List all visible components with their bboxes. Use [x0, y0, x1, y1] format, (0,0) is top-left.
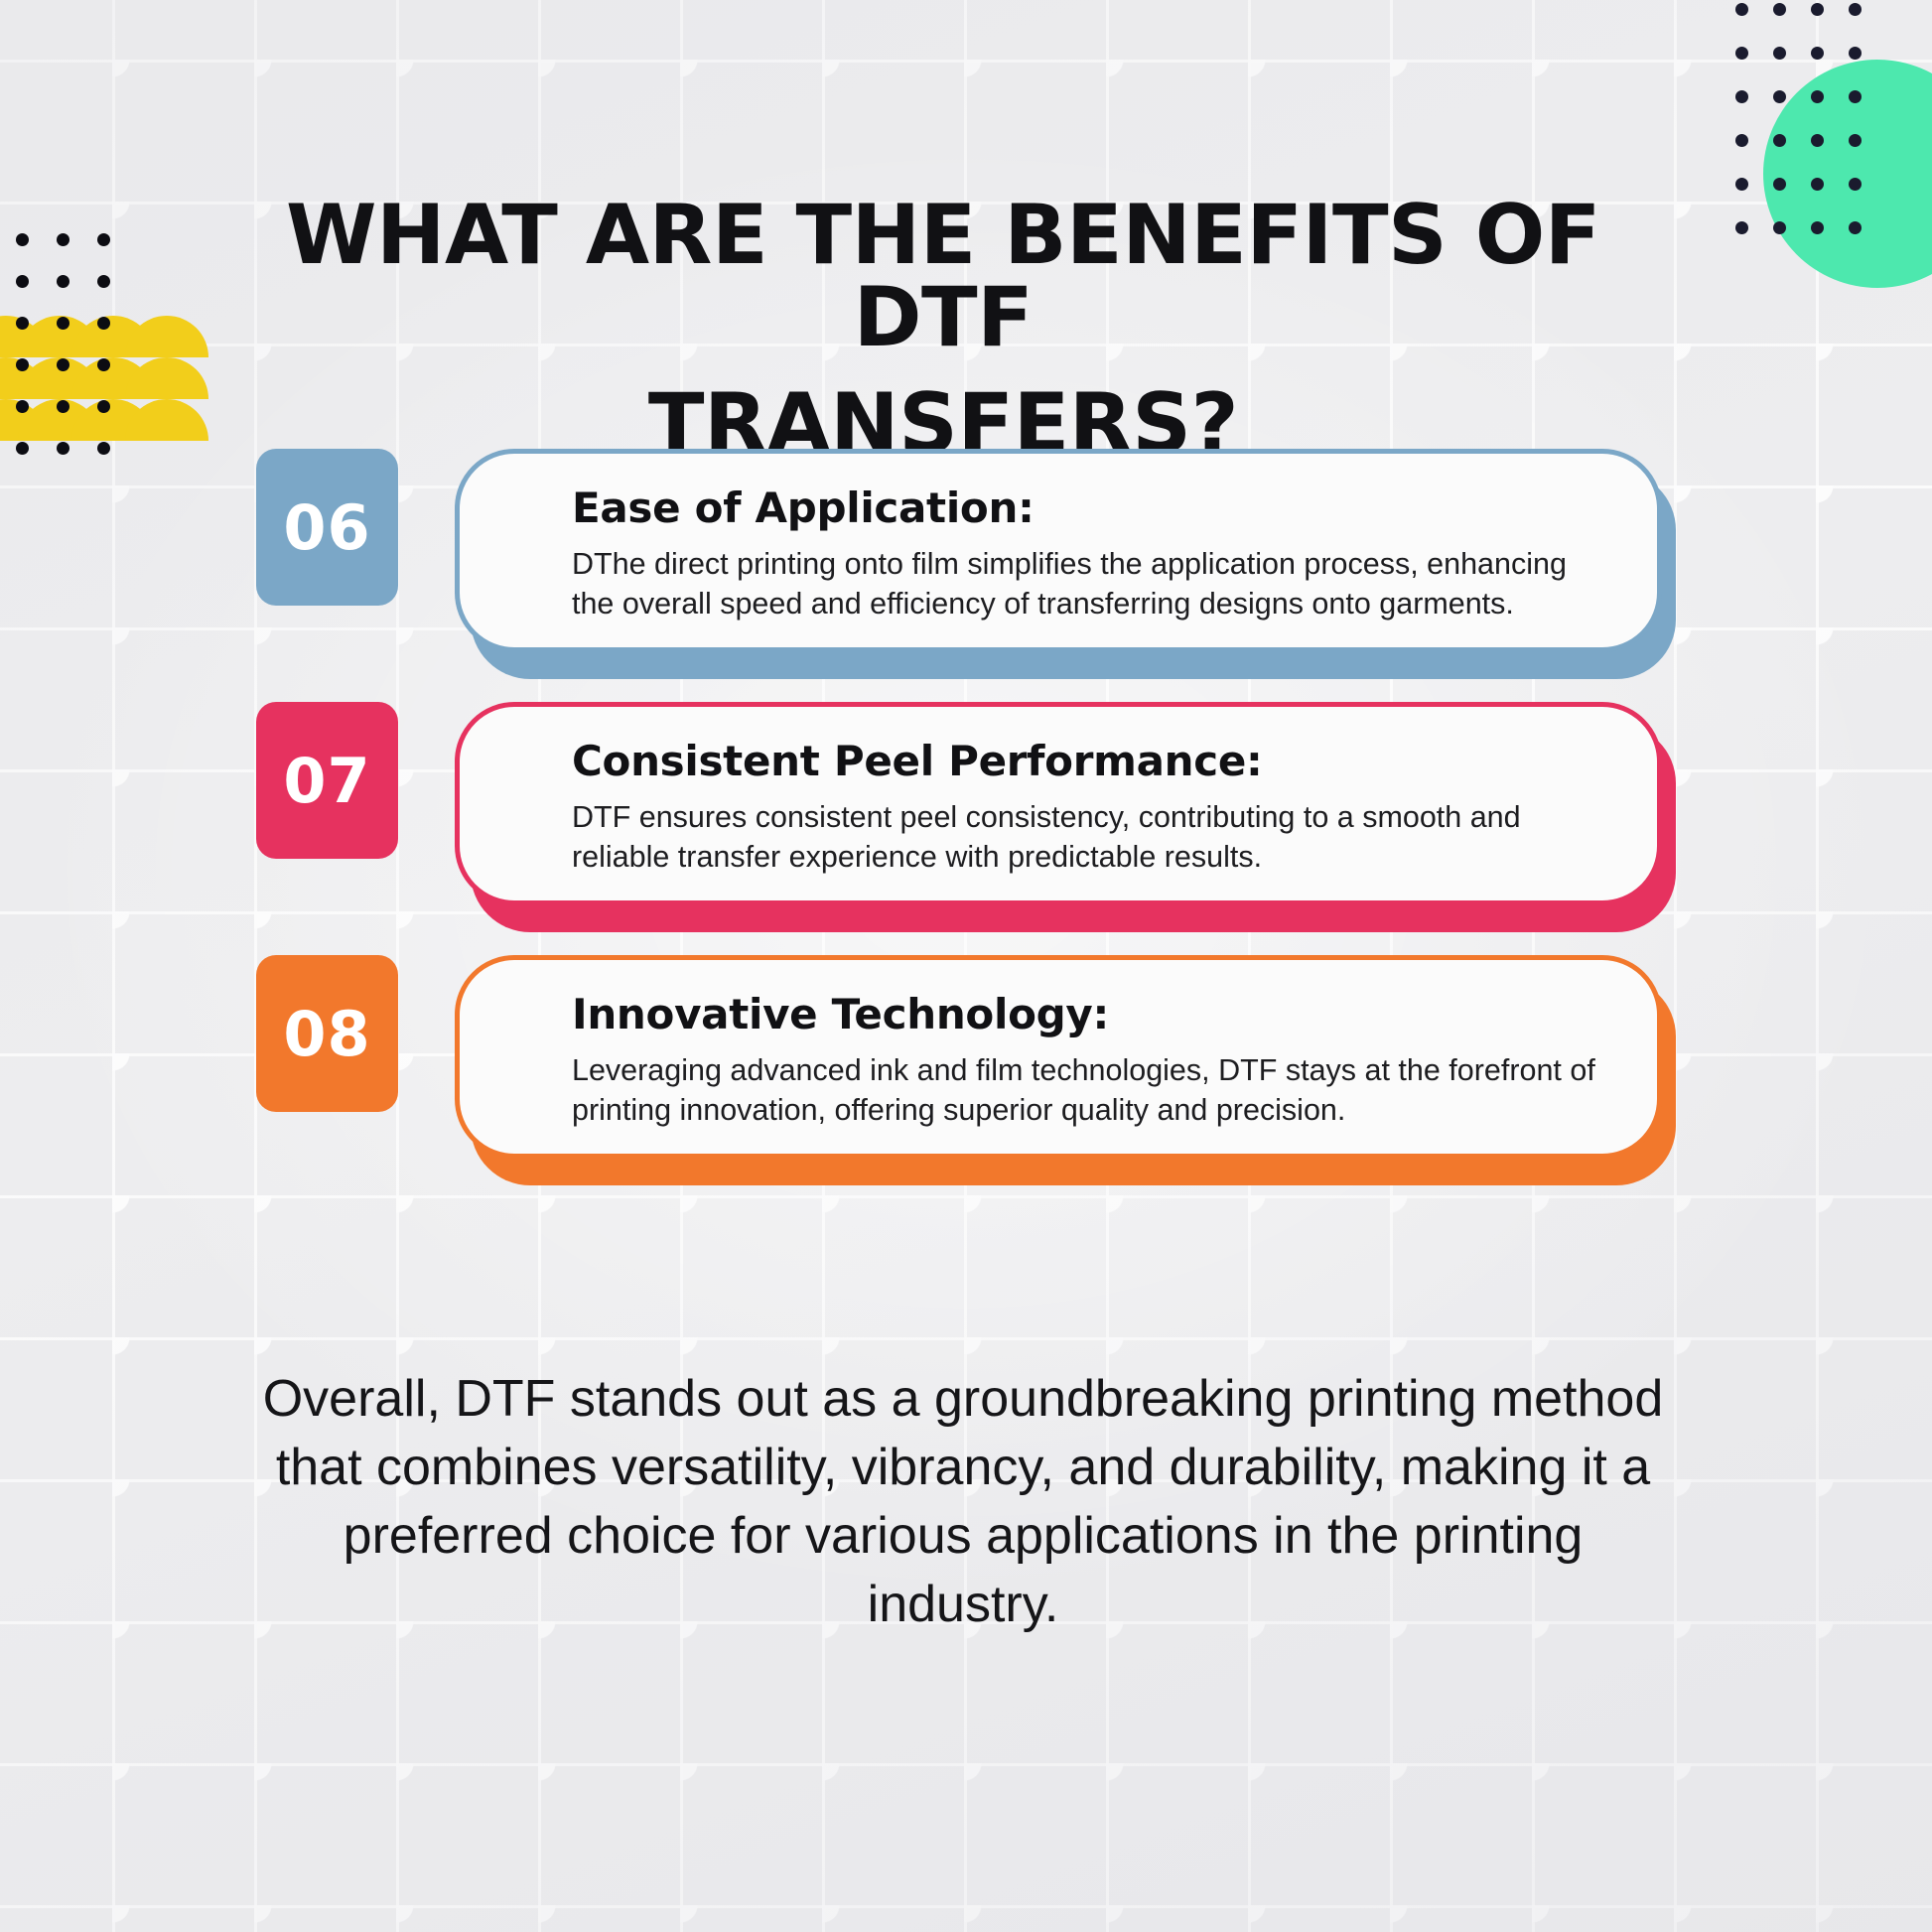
card-number-badge-07: 07 — [256, 702, 398, 859]
decor-dot — [1849, 178, 1862, 191]
card-body-07: Consistent Peel Performance: DTF ensures… — [455, 702, 1662, 905]
benefit-card-08: Innovative Technology: Leveraging advanc… — [0, 955, 1932, 1178]
card-body-06: Ease of Application: DThe direct printin… — [455, 449, 1662, 652]
decor-dot — [1773, 221, 1786, 234]
decor-semicircle — [125, 357, 208, 399]
decor-dot — [97, 317, 110, 330]
decor-dot — [1773, 134, 1786, 147]
decor-dot — [1735, 90, 1748, 103]
card-heading-07: Consistent Peel Performance: — [572, 737, 1595, 785]
decor-dot — [1735, 134, 1748, 147]
decor-dot — [1773, 90, 1786, 103]
decor-dot — [97, 400, 110, 413]
decor-dot — [57, 275, 69, 288]
decor-dot — [57, 317, 69, 330]
decor-dot — [1849, 134, 1862, 147]
decor-dot — [1849, 90, 1862, 103]
decor-dot — [16, 275, 29, 288]
page-title-line-1: WHAT ARE THE BENEFITS OF DTF — [238, 194, 1648, 358]
decor-dot — [1735, 178, 1748, 191]
decor-dot — [1773, 178, 1786, 191]
decor-dot — [57, 400, 69, 413]
decor-dot — [16, 233, 29, 246]
decor-dot — [1849, 221, 1862, 234]
decor-semicircle — [125, 316, 208, 357]
decor-semicircle — [125, 399, 208, 441]
decor-dot — [16, 400, 29, 413]
benefits-card-list: Ease of Application: DThe direct printin… — [0, 449, 1932, 1208]
card-heading-06: Ease of Application: — [572, 483, 1595, 532]
decor-dot — [1735, 221, 1748, 234]
card-body-08: Innovative Technology: Leveraging advanc… — [455, 955, 1662, 1159]
decor-dot — [1811, 221, 1824, 234]
benefit-card-07: Consistent Peel Performance: DTF ensures… — [0, 702, 1932, 925]
decor-dot — [57, 358, 69, 371]
benefit-card-06: Ease of Application: DThe direct printin… — [0, 449, 1932, 672]
teal-circle-shape — [1763, 60, 1932, 288]
decor-dot — [1773, 47, 1786, 60]
decor-dot — [1773, 3, 1786, 16]
decor-dot — [1849, 3, 1862, 16]
card-number-badge-06: 06 — [256, 449, 398, 606]
decor-dot — [97, 233, 110, 246]
decor-dot — [16, 317, 29, 330]
summary-paragraph: Overall, DTF stands out as a groundbreak… — [248, 1365, 1678, 1640]
decor-dot — [97, 275, 110, 288]
decor-dot — [57, 233, 69, 246]
decor-dot — [1811, 3, 1824, 16]
decor-top-right — [1644, 0, 1932, 298]
card-text-07: DTF ensures consistent peel consistency,… — [572, 798, 1595, 878]
decor-dot — [1735, 3, 1748, 16]
decor-dot — [1811, 178, 1824, 191]
decor-dot — [16, 358, 29, 371]
card-text-08: Leveraging advanced ink and film technol… — [572, 1051, 1595, 1131]
decor-dot — [1811, 134, 1824, 147]
card-heading-08: Innovative Technology: — [572, 990, 1595, 1038]
card-text-06: DThe direct printing onto film simplifie… — [572, 545, 1595, 624]
decor-dot — [1811, 90, 1824, 103]
decor-dot — [97, 358, 110, 371]
decor-dot — [1849, 47, 1862, 60]
decor-dot — [1811, 47, 1824, 60]
card-number-badge-08: 08 — [256, 955, 398, 1112]
decor-dot — [1735, 47, 1748, 60]
page-title: WHAT ARE THE BENEFITS OF DTF TRANSFERS? — [238, 194, 1648, 465]
